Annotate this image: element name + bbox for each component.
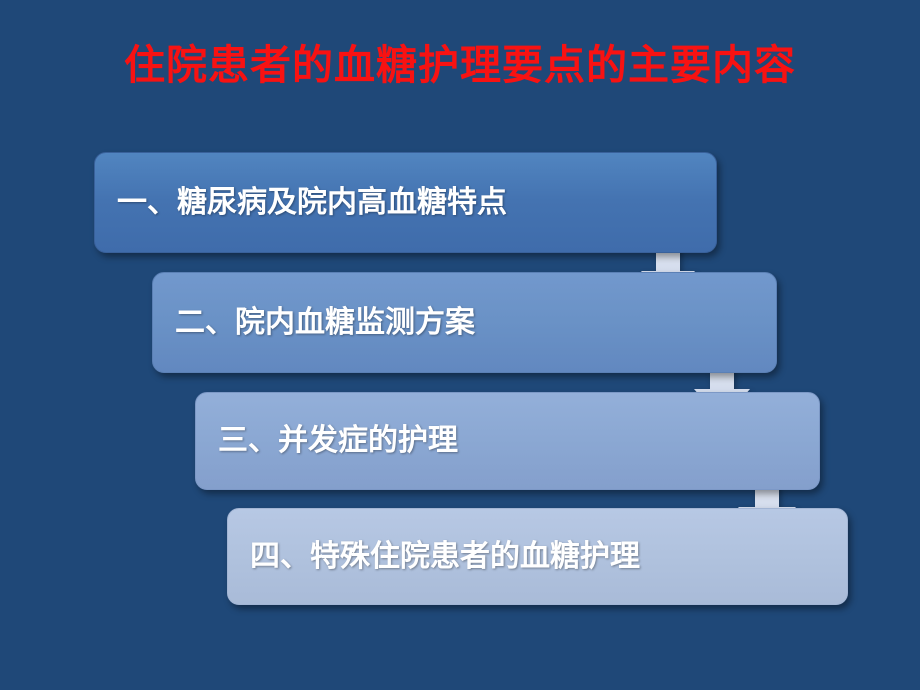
slide-title: 住院患者的血糖护理要点的主要内容 (0, 38, 920, 92)
flow-step-3[interactable]: 三、并发症的护理 (195, 392, 820, 490)
flow-step-1[interactable]: 一、糖尿病及院内高血糖特点 (94, 152, 717, 253)
flow-step-2[interactable]: 二、院内血糖监测方案 (152, 272, 777, 373)
flow-step-4[interactable]: 四、特殊住院患者的血糖护理 (227, 508, 848, 605)
flow-step-4-label: 四、特殊住院患者的血糖护理 (228, 538, 640, 576)
flow-step-1-label: 一、糖尿病及院内高血糖特点 (95, 184, 507, 222)
flow-step-3-label: 三、并发症的护理 (196, 422, 458, 460)
flow-step-2-label: 二、院内血糖监测方案 (153, 304, 475, 342)
presentation-slide: 住院患者的血糖护理要点的主要内容 一、糖尿病及院内高血糖特点 二、院内血糖监测方… (0, 0, 920, 690)
